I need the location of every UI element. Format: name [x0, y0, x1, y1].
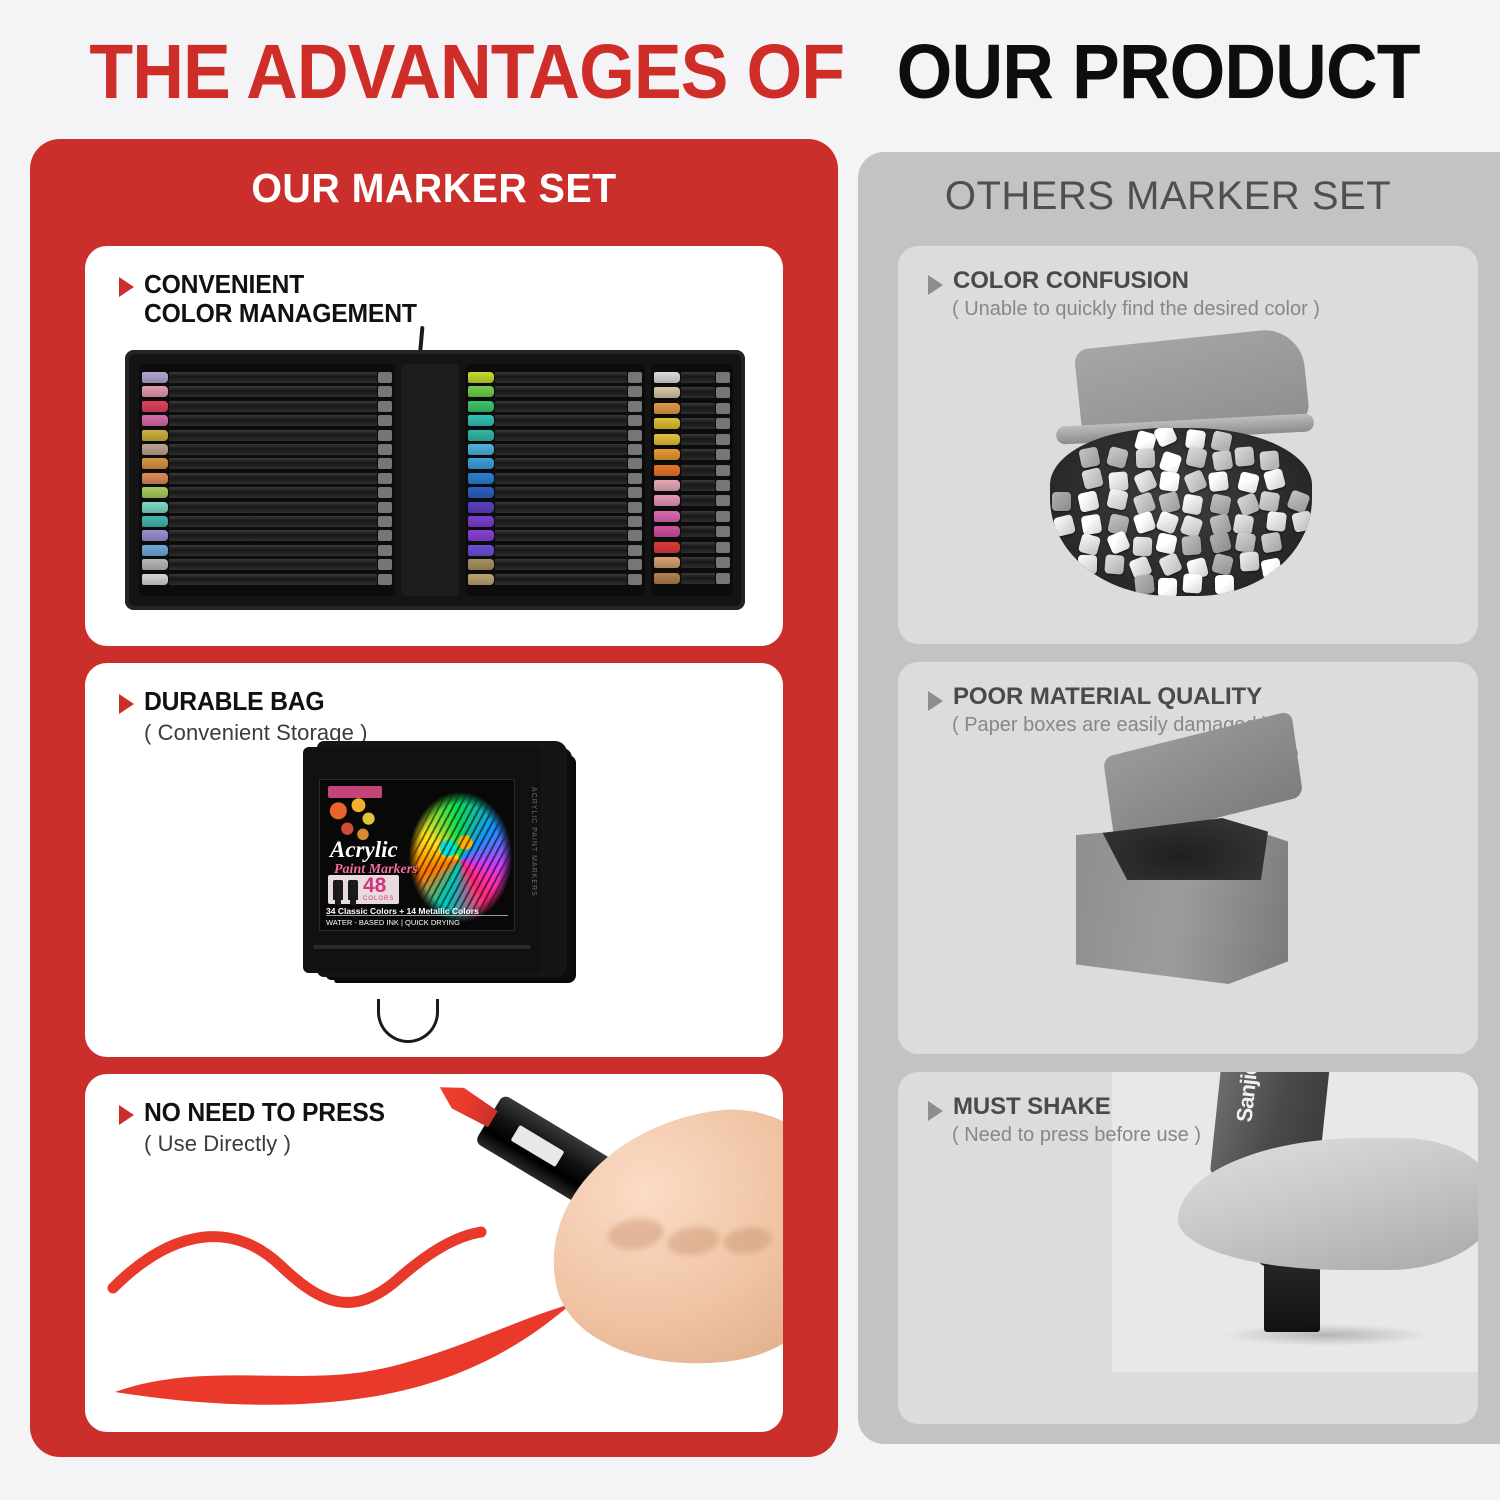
drop-shadow [1222, 1324, 1432, 1346]
marker-row [142, 372, 392, 383]
marker-cap [1211, 430, 1234, 453]
marker-tip [716, 418, 730, 429]
marker-cap [654, 449, 680, 460]
marker-tip [628, 516, 642, 527]
marker-barrel [169, 487, 377, 498]
marker-barrel [169, 430, 377, 441]
marker-cap [1158, 450, 1182, 474]
marker-barrel [169, 502, 377, 513]
marker-barrel [681, 449, 715, 460]
feature-heading: NO NEED TO PRESS ( Use Directly ) [119, 1098, 398, 1157]
feature-card-durable-bag: DURABLE BAG ( Convenient Storage ) Acryl… [85, 663, 783, 1057]
marker-tip [628, 386, 642, 397]
marker-tip [628, 415, 642, 426]
marker-row [654, 526, 730, 537]
marker-row [142, 444, 392, 455]
marker-barrel [495, 372, 627, 383]
marker-cap [468, 386, 494, 397]
marker-cap [142, 386, 168, 397]
marker-tip [716, 542, 730, 553]
marker-row [654, 511, 730, 522]
marker-row [142, 545, 392, 556]
marker-cap [1106, 446, 1129, 469]
issue-card-color-confusion: COLOR CONFUSION ( Unable to quickly find… [898, 246, 1478, 644]
issue-card-poor-material: POOR MATERIAL QUALITY ( Paper boxes are … [898, 662, 1478, 1054]
marker-barrel [495, 386, 627, 397]
marker-cap [1261, 531, 1283, 553]
marker-tip [628, 372, 642, 383]
marker-cap [1158, 552, 1183, 577]
marker-cap [1181, 535, 1201, 555]
marker-row [654, 372, 730, 383]
marker-cap [1239, 552, 1259, 572]
marker-cap [1053, 514, 1076, 537]
color-count-number: 48 [363, 877, 394, 896]
marker-tip [378, 415, 392, 426]
marker-cap [654, 557, 680, 568]
bullet-triangle-icon [119, 694, 134, 714]
marker-row [654, 449, 730, 460]
marker-cap [142, 574, 168, 585]
feature-title: DURABLE BAG [144, 687, 324, 716]
marker-tip [628, 487, 642, 498]
marker-barrel [495, 473, 627, 484]
marker-tip [628, 458, 642, 469]
marker-barrel [681, 465, 715, 476]
marker-cap [1158, 470, 1179, 491]
marker-tip [378, 516, 392, 527]
marker-tip [378, 458, 392, 469]
marker-barrel [495, 530, 627, 541]
marker-cap [1183, 573, 1203, 593]
marker-row [468, 372, 642, 383]
feature-heading: CONVENIENT COLOR MANAGEMENT [119, 270, 431, 328]
marker-tip [716, 387, 730, 398]
gray-fabric-box-image [1048, 726, 1348, 1016]
marker-cap [468, 487, 494, 498]
marker-barrel [495, 430, 627, 441]
marker-barrel [495, 458, 627, 469]
product-comparison-infographic: THE ADVANTAGES OF OUR PRODUCT OUR MARKER… [0, 0, 1500, 1500]
marker-cap [1183, 469, 1208, 494]
marker-barrel [495, 516, 627, 527]
marker-cap [1234, 447, 1255, 468]
bullet-triangle-icon [928, 1101, 943, 1121]
marker-cap [1104, 554, 1125, 575]
marker-row [468, 574, 642, 585]
marker-cap [468, 444, 494, 455]
marker-cap [654, 511, 680, 522]
case-spine-text: ACRYLIC PAINT MARKERS [530, 787, 537, 897]
marker-tip [628, 502, 642, 513]
title-black-part: OUR PRODUCT [897, 34, 1420, 111]
feature-heading: DURABLE BAG ( Convenient Storage ) [119, 687, 368, 746]
issue-card-must-shake: Sanjie MUST SHAKE ( Need to press before… [898, 1072, 1478, 1424]
folder-panel-center [465, 364, 645, 596]
bullet-triangle-icon [119, 277, 134, 297]
marker-cap [142, 487, 168, 498]
marker-row [654, 418, 730, 429]
marker-tip [628, 430, 642, 441]
marker-row [142, 415, 392, 426]
marker-cap [654, 465, 680, 476]
marker-cap [654, 372, 680, 383]
marker-cap [468, 530, 494, 541]
marker-row [468, 430, 642, 441]
marker-cap [468, 559, 494, 570]
feature-title: NO NEED TO PRESS [144, 1098, 385, 1127]
color-count-label: COLORS [363, 896, 394, 902]
marker-cap [1077, 490, 1100, 513]
marker-cap [468, 574, 494, 585]
marker-cap [654, 526, 680, 537]
marker-tip [716, 480, 730, 491]
marker-tip [716, 526, 730, 537]
marker-cap [1185, 447, 1208, 470]
marker-cap [1133, 536, 1153, 556]
marker-row [142, 516, 392, 527]
marker-barrel [495, 487, 627, 498]
marker-barrel [169, 386, 377, 397]
marker-cap [654, 573, 680, 584]
marker-row [142, 473, 392, 484]
others-marker-set-panel: OTHERS MARKER SET COLOR CONFUSION ( Unab… [858, 152, 1500, 1444]
marker-cap [142, 516, 168, 527]
marker-cap [142, 415, 168, 426]
marker-row [142, 386, 392, 397]
marker-cap [1209, 531, 1232, 554]
marker-cap [654, 480, 680, 491]
issue-subtitle: ( Need to press before use ) [952, 1124, 1201, 1147]
issue-title: POOR MATERIAL QUALITY [953, 684, 1262, 711]
marker-tip [628, 574, 642, 585]
pouch-body-with-caps [1050, 428, 1312, 596]
marker-cap [468, 372, 494, 383]
marker-tip [628, 473, 642, 484]
marker-nib-icon [348, 880, 358, 900]
marker-row [142, 430, 392, 441]
marker-brush-nib [433, 1076, 500, 1130]
marker-barrel [169, 444, 377, 455]
marker-tip [378, 430, 392, 441]
marker-cap [142, 430, 168, 441]
marker-cap [1211, 553, 1234, 576]
marker-cap [1266, 511, 1287, 532]
feature-title-line2: COLOR MANAGEMENT [144, 299, 417, 328]
marker-tip [378, 530, 392, 541]
marker-tip [716, 557, 730, 568]
marker-tip [378, 473, 392, 484]
marker-cap [654, 418, 680, 429]
case-zipper [313, 945, 531, 949]
pen-label-window [511, 1125, 565, 1167]
marker-tip [628, 530, 642, 541]
marker-row [654, 573, 730, 584]
case-product-label: Acrylic Paint Markers 48 COLORS 34 Class… [319, 779, 515, 931]
bullet-triangle-icon [928, 691, 943, 711]
marker-cap [1179, 514, 1203, 538]
feature-title-line1: CONVENIENT [144, 270, 417, 299]
marker-tip [378, 372, 392, 383]
marker-barrel [495, 545, 627, 556]
marker-tip [378, 401, 392, 412]
case-wrist-cord [377, 999, 439, 1043]
marker-cap [1214, 575, 1233, 594]
marker-cap [468, 458, 494, 469]
marker-barrel [681, 495, 715, 506]
marker-cap [1106, 530, 1131, 555]
marker-barrel [495, 574, 627, 585]
marker-tip [628, 401, 642, 412]
marker-cap [1081, 514, 1103, 536]
title-red-part: THE ADVANTAGES OF [89, 34, 844, 111]
marker-cap [142, 401, 168, 412]
marker-barrel [169, 458, 377, 469]
marker-tip [378, 386, 392, 397]
marker-barrel [681, 418, 715, 429]
marker-cap [1261, 557, 1283, 579]
marker-cap [654, 387, 680, 398]
marker-cap [468, 473, 494, 484]
color-count-badge: 48 COLORS [328, 875, 399, 904]
marker-tip [628, 444, 642, 455]
marker-cap [1153, 428, 1178, 448]
marker-tip [716, 573, 730, 584]
marker-tip [716, 495, 730, 506]
marker-barrel [495, 559, 627, 570]
case-front-cover: Acrylic Paint Markers 48 COLORS 34 Class… [303, 747, 541, 973]
marker-barrel [495, 502, 627, 513]
marker-barrel [169, 530, 377, 541]
marker-cap [654, 495, 680, 506]
marker-barrel [169, 372, 377, 383]
marker-row [654, 387, 730, 398]
marker-cap [1158, 578, 1177, 596]
marker-cap [468, 401, 494, 412]
marker-barrel [169, 473, 377, 484]
marker-cap [1078, 555, 1097, 574]
marker-barrel [495, 415, 627, 426]
issue-heading: COLOR CONFUSION ( Unable to quickly find… [928, 268, 1320, 321]
marker-row [654, 434, 730, 445]
marker-row [468, 386, 642, 397]
issue-title: MUST SHAKE [953, 1094, 1111, 1121]
issue-heading: MUST SHAKE ( Need to press before use ) [928, 1094, 1201, 1147]
marker-barrel [169, 415, 377, 426]
marker-tip [378, 487, 392, 498]
marker-cap [1078, 446, 1100, 468]
marker-barrel [495, 444, 627, 455]
marker-tip [716, 465, 730, 476]
marker-barrel [681, 403, 715, 414]
marker-cap [1135, 448, 1155, 468]
marker-cap [1182, 494, 1204, 516]
marker-row [654, 557, 730, 568]
marker-cap [1263, 467, 1286, 490]
marker-barrel [681, 542, 715, 553]
marker-cap [1133, 511, 1157, 535]
marker-row [142, 487, 392, 498]
marker-nib-icon [333, 880, 343, 900]
marker-barrel [681, 573, 715, 584]
marker-row [654, 403, 730, 414]
marker-row [654, 480, 730, 491]
marker-tip [716, 434, 730, 445]
bullet-triangle-icon [119, 1105, 134, 1125]
marker-cap [142, 458, 168, 469]
marker-row [468, 559, 642, 570]
feature-card-no-press: NO NEED TO PRESS ( Use Directly ) Paint [85, 1074, 783, 1432]
marker-cap [468, 415, 494, 426]
marker-barrel [495, 401, 627, 412]
marker-cap [1134, 574, 1155, 595]
marker-cap [1212, 449, 1234, 471]
marker-barrel [169, 559, 377, 570]
marker-cap [1052, 492, 1071, 511]
marker-cap [1132, 469, 1157, 494]
issue-subtitle: ( Unable to quickly find the desired col… [952, 298, 1320, 321]
marker-cap [468, 545, 494, 556]
folder-panel-left [139, 364, 395, 596]
folder-body [125, 350, 745, 610]
folder-panel-right [651, 364, 733, 596]
marker-barrel [681, 372, 715, 383]
hand-with-marker-image: Paint [411, 1074, 783, 1374]
marker-tip [628, 559, 642, 570]
marker-tip [628, 545, 642, 556]
marker-row [142, 530, 392, 541]
marker-cap [142, 545, 168, 556]
marker-row [654, 465, 730, 476]
marker-cap [1209, 493, 1231, 515]
marker-barrel [681, 434, 715, 445]
marker-tip [378, 545, 392, 556]
marker-cap [1078, 533, 1101, 556]
marker-row [468, 487, 642, 498]
marker-tip [716, 449, 730, 460]
marker-cap [654, 542, 680, 553]
marker-row [142, 559, 392, 570]
marker-cap [142, 444, 168, 455]
marker-folder-image [125, 350, 745, 610]
feature-card-color-management: CONVENIENT COLOR MANAGEMENT [85, 246, 783, 646]
marker-row [468, 444, 642, 455]
marker-row [468, 473, 642, 484]
black-marker-case-image: Acrylic Paint Markers 48 COLORS 34 Class… [303, 741, 573, 1009]
marker-cap [654, 434, 680, 445]
feature-subtitle: ( Use Directly ) [144, 1131, 398, 1157]
marker-row [654, 542, 730, 553]
marker-row [468, 545, 642, 556]
marker-barrel [169, 574, 377, 585]
marker-row [142, 401, 392, 412]
marker-cap [142, 530, 168, 541]
marker-cap [1208, 471, 1229, 492]
marker-tip [716, 511, 730, 522]
marker-row [468, 502, 642, 513]
marker-barrel [681, 480, 715, 491]
marker-cap [1155, 533, 1178, 556]
marker-tip [378, 574, 392, 585]
marker-cap [654, 403, 680, 414]
marker-cap [1235, 531, 1257, 553]
marker-cap [1107, 488, 1130, 511]
marker-row [468, 530, 642, 541]
marker-cap [1155, 510, 1179, 534]
marker-cap [142, 559, 168, 570]
marker-cap [142, 502, 168, 513]
marker-barrel [681, 557, 715, 568]
marker-barrel [169, 401, 377, 412]
marker-cap [1236, 492, 1261, 517]
marker-row [142, 574, 392, 585]
issue-title: COLOR CONFUSION [953, 268, 1189, 295]
marker-tip [378, 444, 392, 455]
marker-cap [1237, 471, 1260, 494]
marker-cap [142, 473, 168, 484]
marker-tip [378, 502, 392, 513]
page-title: THE ADVANTAGES OF OUR PRODUCT [0, 34, 1500, 111]
marker-barrel [681, 511, 715, 522]
bullet-triangle-icon [928, 275, 943, 295]
ink-note-text: WATER - BASED INK | QUICK DRYING [326, 915, 508, 927]
marker-row [142, 502, 392, 513]
marker-cap [142, 372, 168, 383]
marker-row [654, 495, 730, 506]
marker-row [468, 415, 642, 426]
marker-barrel [169, 545, 377, 556]
marker-tip [378, 559, 392, 570]
marker-row [142, 458, 392, 469]
marker-tip [716, 372, 730, 383]
marker-barrel [681, 387, 715, 398]
gray-pouch-image [1016, 324, 1356, 624]
product-name-line1: Acrylic [330, 838, 398, 861]
marker-cap [468, 430, 494, 441]
marker-barrel [169, 516, 377, 527]
marker-cap [468, 516, 494, 527]
our-panel-title: OUR MARKER SET [46, 165, 822, 212]
marker-row [468, 516, 642, 527]
marker-tip [716, 403, 730, 414]
marker-cap [468, 502, 494, 513]
marker-cap [1291, 510, 1312, 533]
marker-brand-text: Sanjie [1231, 1072, 1263, 1124]
others-panel-title: OTHERS MARKER SET [858, 174, 1478, 219]
marker-cap [1081, 467, 1104, 490]
marker-cap [1259, 490, 1281, 512]
marker-cap [1158, 491, 1181, 514]
marker-row [468, 401, 642, 412]
marker-row [468, 458, 642, 469]
folder-panel-middle-flap [401, 364, 459, 596]
marker-barrel [681, 526, 715, 537]
our-marker-set-panel: OUR MARKER SET CONVENIENT COLOR MANAGEME… [30, 139, 838, 1457]
